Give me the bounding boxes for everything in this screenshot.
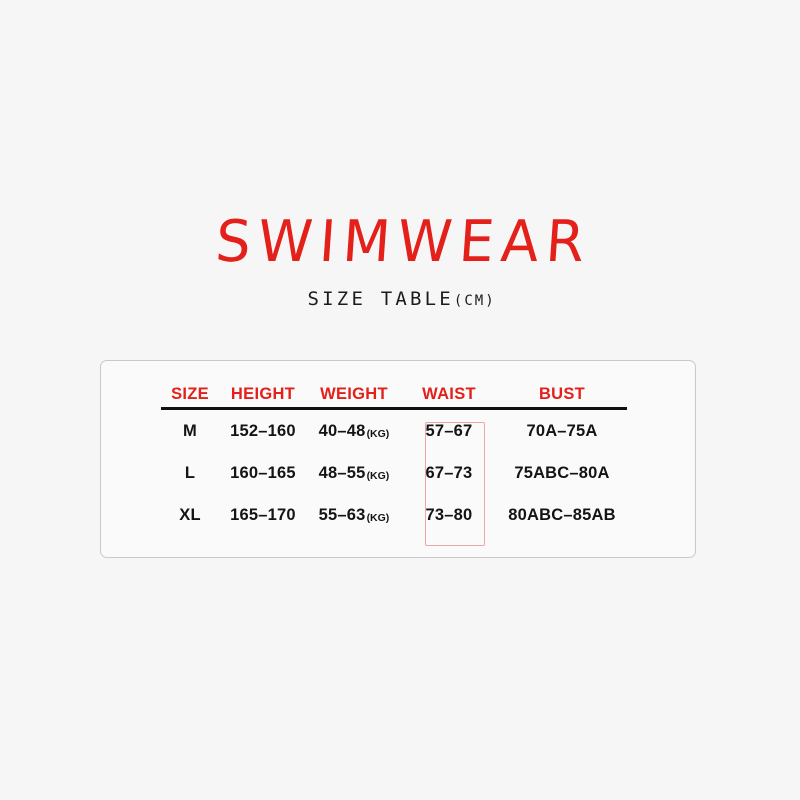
cell-waist: 67–73 xyxy=(401,452,497,494)
column-header-height: HEIGHT xyxy=(219,381,307,409)
cell-weight: 40–48(KG) xyxy=(307,409,401,453)
cell-height: 152–160 xyxy=(219,409,307,453)
cell-waist: 57–67 xyxy=(401,409,497,453)
cell-weight: 48–55(KG) xyxy=(307,452,401,494)
cell-bust: 75ABC–80A xyxy=(497,452,627,494)
table-body: M 152–160 40–48(KG) 57–67 70A–75A L 160–… xyxy=(161,409,627,537)
cell-height: 165–170 xyxy=(219,494,307,536)
cell-weight: 55–63(KG) xyxy=(307,494,401,536)
cell-size: L xyxy=(161,452,219,494)
page-title: SWIMWEAR xyxy=(0,210,800,274)
cell-weight-value: 55–63 xyxy=(319,506,366,524)
cell-waist: 73–80 xyxy=(401,494,497,536)
size-chart-page: SWIMWEAR SIZE TABLE(CM) SIZE HEIGHT xyxy=(0,0,800,800)
size-table-wrapper: SIZE HEIGHT WEIGHT WAIST BUST M 152–160 … xyxy=(161,381,627,536)
cell-weight-unit: (KG) xyxy=(367,428,390,440)
cell-bust: 70A–75A xyxy=(497,409,627,453)
column-header-weight: WEIGHT xyxy=(307,381,401,409)
page-subtitle: SIZE TABLE(CM) xyxy=(0,288,800,312)
cell-size: M xyxy=(161,409,219,453)
table-header-row: SIZE HEIGHT WEIGHT WAIST BUST xyxy=(161,381,627,409)
subtitle-text: SIZE TABLE xyxy=(308,288,454,310)
cell-height: 160–165 xyxy=(219,452,307,494)
column-header-size: SIZE xyxy=(161,381,219,409)
size-table-card: SIZE HEIGHT WEIGHT WAIST BUST M 152–160 … xyxy=(100,360,696,558)
size-table: SIZE HEIGHT WEIGHT WAIST BUST M 152–160 … xyxy=(161,381,627,536)
cell-weight-value: 40–48 xyxy=(319,422,366,440)
cell-weight-unit: (KG) xyxy=(367,470,390,482)
table-row: M 152–160 40–48(KG) 57–67 70A–75A xyxy=(161,409,627,453)
cell-weight-unit: (KG) xyxy=(367,512,390,524)
table-row: XL 165–170 55–63(KG) 73–80 80ABC–85AB xyxy=(161,494,627,536)
column-header-waist: WAIST xyxy=(401,381,497,409)
subtitle-unit: (CM) xyxy=(454,293,496,309)
title-block: SWIMWEAR SIZE TABLE(CM) xyxy=(0,212,800,312)
table-head: SIZE HEIGHT WEIGHT WAIST BUST xyxy=(161,381,627,409)
cell-weight-value: 48–55 xyxy=(319,464,366,482)
column-header-bust: BUST xyxy=(497,381,627,409)
cell-bust: 80ABC–85AB xyxy=(497,494,627,536)
cell-size: XL xyxy=(161,494,219,536)
table-row: L 160–165 48–55(KG) 67–73 75ABC–80A xyxy=(161,452,627,494)
